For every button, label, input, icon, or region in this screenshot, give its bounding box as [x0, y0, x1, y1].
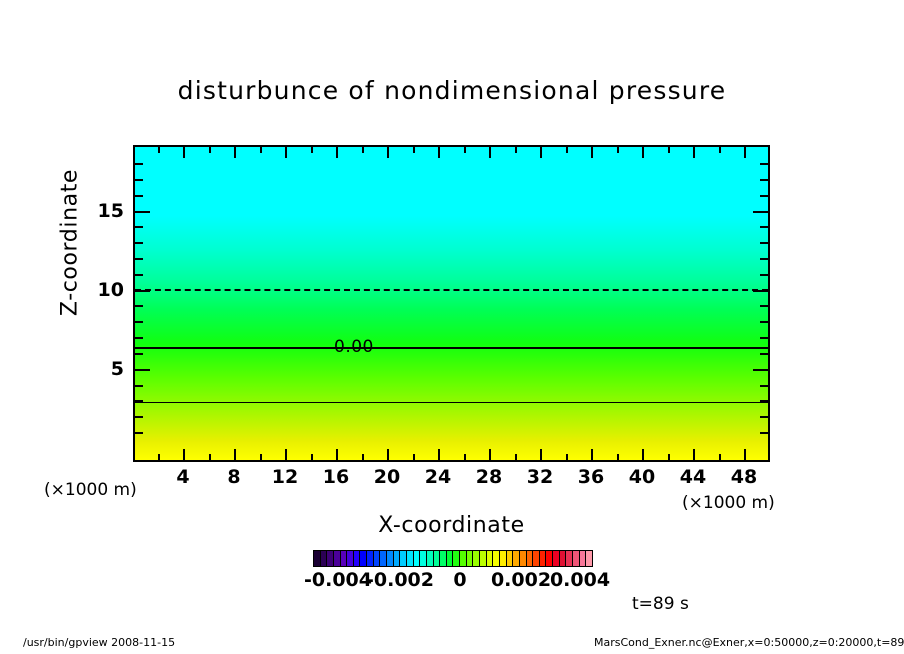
xtick-bottom-major	[744, 449, 746, 460]
ytick-right-minor	[760, 385, 768, 387]
colorbar-swatch	[341, 551, 348, 566]
xtick-bottom-major	[591, 449, 593, 460]
xtick-top-minor	[158, 147, 160, 153]
xtick-top-minor	[566, 147, 568, 153]
xtick-bottom-major	[438, 449, 440, 460]
xtick-top-minor	[515, 147, 517, 153]
xtick-bottom-minor	[209, 454, 211, 460]
ytick-right-minor	[760, 274, 768, 276]
xtick-bottom-minor	[719, 454, 721, 460]
ytick-left-minor	[135, 400, 143, 402]
xtick-top-minor	[464, 147, 466, 153]
colorbar-swatch	[327, 551, 334, 566]
xtick-bottom-major	[183, 449, 185, 460]
ytick-left-major	[135, 369, 150, 371]
footer-dataset-info: MarsCond_Exner.nc@Exner,x=0:50000,z=0:20…	[594, 636, 904, 649]
colorbar-tick-label: 0	[425, 569, 495, 591]
colorbar-swatch	[400, 551, 407, 566]
footer-command-date: /usr/bin/gpview 2008-11-15	[23, 636, 175, 649]
colorbar-swatch	[580, 551, 587, 566]
colorbar-swatch	[493, 551, 500, 566]
ytick-right-minor	[760, 258, 768, 260]
x-axis-label: X-coordinate	[133, 513, 770, 538]
xtick-bottom-minor	[566, 454, 568, 460]
ytick-left-minor	[135, 416, 143, 418]
xtick-label: 20	[365, 466, 409, 488]
ytick-left-minor	[135, 432, 143, 434]
xtick-top-minor	[413, 147, 415, 153]
ytick-label: 10	[88, 279, 124, 301]
colorbar-swatch	[447, 551, 454, 566]
xtick-bottom-minor	[260, 454, 262, 460]
colorbar-swatch	[527, 551, 534, 566]
xtick-top-minor	[719, 147, 721, 153]
ytick-right-minor	[760, 305, 768, 307]
ytick-left-minor	[135, 321, 143, 323]
colorbar-swatch	[360, 551, 367, 566]
colorbar-swatch	[321, 551, 328, 566]
xtick-bottom-minor	[515, 454, 517, 460]
xtick-top-major	[591, 147, 593, 158]
xtick-top-major	[744, 147, 746, 158]
xtick-label: 8	[212, 466, 256, 488]
xtick-bottom-major	[336, 449, 338, 460]
colorbar-swatch	[414, 551, 421, 566]
xtick-label: 28	[467, 466, 511, 488]
ytick-right-minor	[760, 242, 768, 244]
xtick-label: 44	[671, 466, 715, 488]
colorbar-swatch	[500, 551, 507, 566]
xtick-bottom-major	[540, 449, 542, 460]
colorbar-swatch	[533, 551, 540, 566]
xtick-top-minor	[209, 147, 211, 153]
xtick-bottom-major	[285, 449, 287, 460]
ytick-left-minor	[135, 305, 143, 307]
ytick-label: 15	[88, 200, 124, 222]
colorbar-swatch	[374, 551, 381, 566]
pressure-field-heatmap	[135, 147, 768, 460]
colorbar-swatch	[420, 551, 427, 566]
colorbar-swatch	[566, 551, 573, 566]
ytick-left-minor	[135, 258, 143, 260]
colorbar-swatch	[467, 551, 474, 566]
xtick-label: 4	[161, 466, 205, 488]
ytick-right-minor	[760, 432, 768, 434]
plot-area: 0.00	[133, 145, 770, 462]
colorbar-swatch	[480, 551, 487, 566]
colorbar-swatch	[334, 551, 341, 566]
ytick-left-minor	[135, 242, 143, 244]
xtick-top-major	[693, 147, 695, 158]
colorbar-swatch	[387, 551, 394, 566]
xtick-bottom-major	[489, 449, 491, 460]
xtick-bottom-major	[387, 449, 389, 460]
colorbar-swatch	[367, 551, 374, 566]
xtick-bottom-major	[642, 449, 644, 460]
ytick-right-minor	[760, 416, 768, 418]
colorbar-swatch	[347, 551, 354, 566]
xtick-bottom-minor	[362, 454, 364, 460]
ytick-right-minor	[760, 337, 768, 339]
ytick-right-minor	[760, 226, 768, 228]
xtick-top-major	[642, 147, 644, 158]
chart-title: disturbunce of nondimensional pressure	[0, 76, 904, 105]
xtick-bottom-minor	[617, 454, 619, 460]
xtick-bottom-minor	[668, 454, 670, 460]
ytick-right-minor	[760, 163, 768, 165]
xtick-label: 16	[314, 466, 358, 488]
ytick-left-minor	[135, 179, 143, 181]
ytick-right-minor	[760, 400, 768, 402]
colorbar-swatch	[394, 551, 401, 566]
x-axis-unit-left: (×1000 m)	[44, 480, 137, 500]
colorbar-swatch	[354, 551, 361, 566]
colorbar-swatch	[540, 551, 547, 566]
colorbar-swatch	[473, 551, 480, 566]
xtick-top-major	[183, 147, 185, 158]
xtick-top-major	[336, 147, 338, 158]
ytick-left-minor	[135, 226, 143, 228]
xtick-bottom-minor	[311, 454, 313, 460]
colorbar-swatch	[553, 551, 560, 566]
contour-line-positive-0002	[135, 402, 768, 403]
colorbar-swatch	[520, 551, 527, 566]
xtick-label: 36	[569, 466, 613, 488]
xtick-top-minor	[311, 147, 313, 153]
xtick-label: 40	[620, 466, 664, 488]
xtick-top-minor	[668, 147, 670, 153]
contour-line-negative-0002	[135, 289, 768, 291]
xtick-label: 24	[416, 466, 460, 488]
xtick-top-minor	[260, 147, 262, 153]
xtick-bottom-major	[234, 449, 236, 460]
x-axis-unit-right: (×1000 m)	[682, 493, 775, 513]
xtick-top-major	[438, 147, 440, 158]
xtick-label: 48	[722, 466, 766, 488]
colorbar-swatch	[573, 551, 580, 566]
xtick-top-major	[234, 147, 236, 158]
colorbar-tick-label: -0.004	[303, 569, 373, 591]
ytick-left-minor	[135, 274, 143, 276]
colorbar-swatch	[513, 551, 520, 566]
y-axis-label: Z-coordinate	[58, 143, 83, 343]
ytick-left-major	[135, 211, 150, 213]
ytick-left-minor	[135, 385, 143, 387]
time-annotation: t=89 s	[632, 594, 689, 614]
colorbar-swatch	[586, 551, 592, 566]
xtick-bottom-minor	[464, 454, 466, 460]
xtick-top-minor	[617, 147, 619, 153]
colorbar-swatch	[380, 551, 387, 566]
xtick-label: 32	[518, 466, 562, 488]
ytick-left-major	[135, 290, 150, 292]
colorbar-swatch	[560, 551, 567, 566]
colorbar-swatch	[434, 551, 441, 566]
xtick-label: 12	[263, 466, 307, 488]
ytick-right-minor	[760, 321, 768, 323]
colorbar-tick-label: 0.004	[545, 569, 615, 591]
xtick-bottom-minor	[158, 454, 160, 460]
ytick-left-minor	[135, 353, 143, 355]
xtick-top-major	[540, 147, 542, 158]
ytick-right-minor	[760, 179, 768, 181]
ytick-left-minor	[135, 163, 143, 165]
ytick-right-minor	[760, 195, 768, 197]
gpview-plot-window: disturbunce of nondimensional pressure 0…	[0, 0, 904, 654]
ytick-left-minor	[135, 195, 143, 197]
xtick-bottom-major	[693, 449, 695, 460]
xtick-top-major	[387, 147, 389, 158]
ytick-right-minor	[760, 353, 768, 355]
colorbar-swatch	[487, 551, 494, 566]
ytick-right-major	[753, 369, 768, 371]
xtick-top-minor	[362, 147, 364, 153]
xtick-top-major	[285, 147, 287, 158]
contour-line-zero	[135, 347, 768, 349]
xtick-top-major	[489, 147, 491, 158]
colorbar-swatch	[407, 551, 414, 566]
colorbar-swatch	[440, 551, 447, 566]
contour-label-zero: 0.00	[331, 340, 377, 355]
ytick-right-major	[753, 211, 768, 213]
colorbar-swatch	[507, 551, 514, 566]
colorbar-swatch	[453, 551, 460, 566]
ytick-right-major	[753, 290, 768, 292]
colorbar-swatch	[314, 551, 321, 566]
xtick-bottom-minor	[413, 454, 415, 460]
ytick-left-minor	[135, 337, 143, 339]
colorbar-swatch	[427, 551, 434, 566]
colorbar	[313, 550, 593, 567]
ytick-label: 5	[88, 358, 124, 380]
colorbar-swatch	[460, 551, 467, 566]
colorbar-swatch	[546, 551, 553, 566]
